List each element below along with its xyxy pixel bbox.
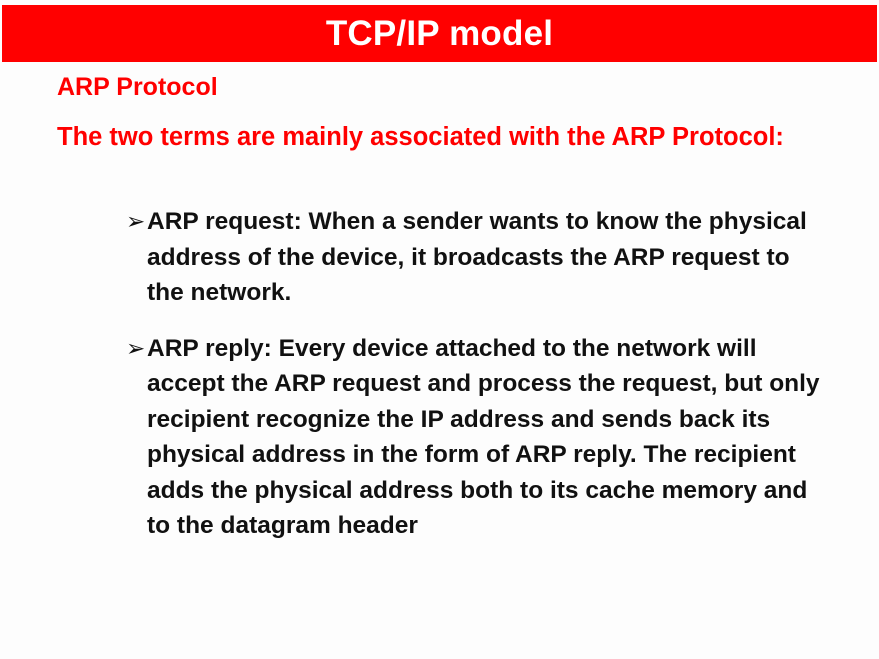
list-item: ➢ ARP reply: Every device attached to th… xyxy=(126,331,856,544)
slide-title-bar: TCP/IP model xyxy=(2,5,877,62)
section-subheading: ARP Protocol xyxy=(57,74,218,102)
arrow-bullet-icon: ➢ xyxy=(126,204,147,240)
slide-canvas: TCP/IP model ARP Protocol The two terms … xyxy=(0,0,879,659)
list-item: ➢ ARP request: When a sender wants to kn… xyxy=(126,204,856,311)
arrow-bullet-icon: ➢ xyxy=(126,331,147,367)
slide-body: ARP Protocol The two terms are mainly as… xyxy=(0,62,879,659)
lead-paragraph: The two terms are mainly associated with… xyxy=(57,119,847,156)
list-item-text: ARP request: When a sender wants to know… xyxy=(147,204,827,311)
bullet-list: ➢ ARP request: When a sender wants to kn… xyxy=(126,204,856,544)
page-title: TCP/IP model xyxy=(326,16,553,51)
list-item-text: ARP reply: Every device attached to the … xyxy=(147,331,827,544)
